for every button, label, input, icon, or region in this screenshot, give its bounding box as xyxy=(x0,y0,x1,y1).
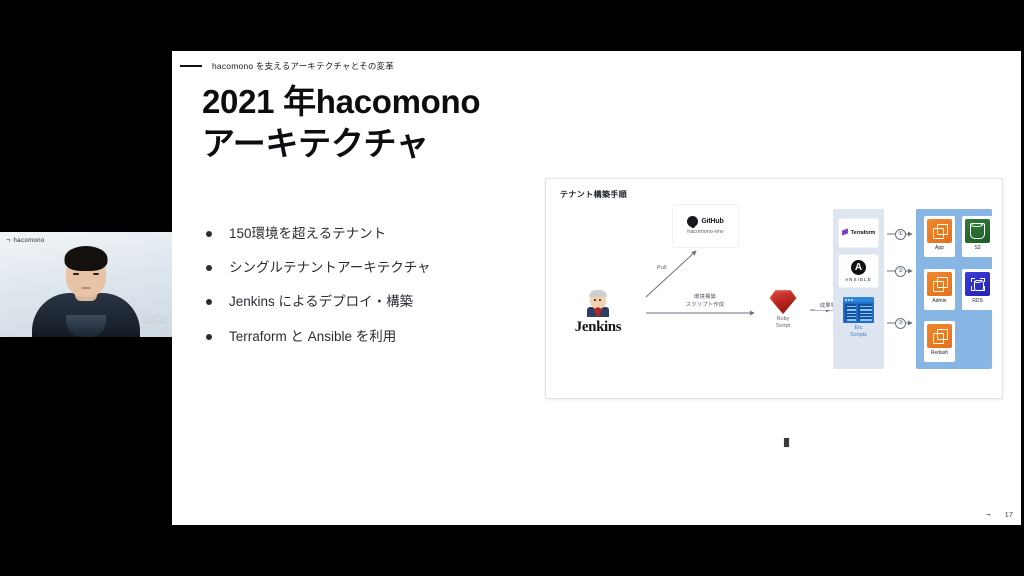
github-icon xyxy=(687,216,698,227)
etc-scripts-icon xyxy=(843,297,874,323)
ansible-label: ANSIBLE xyxy=(845,277,872,282)
slide-title-line-2: アーキテクチャ xyxy=(202,123,622,165)
aws-tile-redash: Redash xyxy=(924,321,955,362)
aws-tile-rds: RDS xyxy=(962,269,993,310)
etc-caption-line-1: Etc xyxy=(855,325,863,331)
bullet-text: 150環境を超えるテナント xyxy=(229,226,386,242)
aws-tile-admin: Admin xyxy=(924,269,955,310)
slide-title: 2021 年hacomono アーキテクチャ xyxy=(202,81,622,164)
presenter-name-overlay: 矢﨑 裕介 Yusuke Yazaki xyxy=(141,318,167,328)
diagram-node-terraform: Terraform xyxy=(839,219,878,247)
edge-label-script-line-1: 環境構築 xyxy=(680,294,730,301)
diagram-node-jenkins: Jenkins xyxy=(554,282,642,344)
etc-caption-line-2: Scripts xyxy=(850,332,867,338)
jenkins-label: Jenkins xyxy=(575,319,621,336)
kicker-label: hacomono を支えるアーキテクチャとその変革 xyxy=(212,60,394,72)
terraform-label: Terraform xyxy=(851,230,876,236)
aws-tile-label: Admin xyxy=(932,298,946,304)
architecture-diagram-card: テナント構築手順 Pull 環境構築 スクリプト作成 成果物 xyxy=(545,178,1003,399)
bullet-text: Jenkins によるデプロイ・構築 xyxy=(229,294,413,310)
rds-database-icon xyxy=(971,278,985,291)
mouse-cursor xyxy=(783,437,790,448)
bullet-dot-icon xyxy=(206,265,212,271)
jenkins-butler-icon xyxy=(586,290,610,317)
aws-tile-app: App xyxy=(924,216,955,257)
github-label: GitHub xyxy=(701,218,723,225)
bullet-text: Terraform と Ansible を利用 xyxy=(229,329,396,345)
etc-caption: Etc Scripts xyxy=(850,325,867,339)
edge-label-script-line-2: スクリプト作成 xyxy=(680,302,730,309)
diagram-node-github: GitHub hacomono-env xyxy=(673,205,738,247)
aws-tile-label: Redash xyxy=(931,350,948,356)
presenter-name-en: Yusuke Yazaki xyxy=(141,324,167,328)
slide-footer: ⌐ 17 xyxy=(986,510,1013,519)
edge-number-1: ① xyxy=(895,229,906,240)
edge-number-3: ③ xyxy=(895,318,906,329)
diagram-node-etc-scripts: Etc Scripts xyxy=(842,297,875,339)
edge-label-pull: Pull xyxy=(650,265,674,272)
ec2-icon xyxy=(933,329,947,343)
bullet-dot-icon xyxy=(206,334,212,340)
diagram-node-ruby-script: Ruby Script xyxy=(759,283,807,337)
hacomono-logo-mark-icon: ⌐ xyxy=(986,510,991,519)
edge-number-2: ② xyxy=(895,266,906,277)
aws-tile-label: RDS xyxy=(972,298,983,304)
bullet-dot-icon xyxy=(206,231,212,237)
webcam-brand-label: hacomono xyxy=(14,238,45,244)
presenter-webcam-panel[interactable]: ⌐ hacomono 矢﨑 裕介 Yusuke Yazaki xyxy=(0,232,172,337)
screen-recording-frame: ⌐ hacomono 矢﨑 裕介 Yusuke Yazaki hacomono … xyxy=(0,0,1024,576)
s3-bucket-icon xyxy=(970,223,985,239)
presenter-video-image xyxy=(30,259,142,337)
ruby-caption-line-1: Ruby xyxy=(777,316,790,323)
github-repo-caption: hacomono-env xyxy=(687,229,723,236)
bullet-dot-icon xyxy=(206,299,212,305)
terraform-icon xyxy=(842,229,849,237)
webcam-brand-logo: ⌐ hacomono xyxy=(6,237,45,244)
kicker-rule-icon xyxy=(180,65,202,67)
bullet-text: シングルテナントアーキテクチャ xyxy=(229,260,431,276)
ec2-icon xyxy=(933,224,947,238)
ruby-caption-line-2: Script xyxy=(776,323,790,330)
presentation-slide: hacomono を支えるアーキテクチャとその変革 2021 年hacomono… xyxy=(172,51,1021,525)
hacomono-logo-mark-icon: ⌐ xyxy=(6,237,11,244)
aws-tile-label: App xyxy=(935,245,944,251)
ansible-icon xyxy=(851,260,866,275)
diagram-title: テナント構築手順 xyxy=(560,189,627,200)
ec2-icon xyxy=(933,277,947,291)
diagram-node-ansible: ANSIBLE xyxy=(839,255,878,287)
slide-kicker: hacomono を支えるアーキテクチャとその変革 xyxy=(180,60,394,72)
slide-page-number: 17 xyxy=(1005,510,1013,519)
ruby-gem-icon xyxy=(770,290,797,314)
aws-tile-label: S3 xyxy=(974,245,980,251)
slide-title-line-1: 2021 年hacomono xyxy=(202,81,622,123)
aws-tile-s3: S3 xyxy=(962,216,993,257)
